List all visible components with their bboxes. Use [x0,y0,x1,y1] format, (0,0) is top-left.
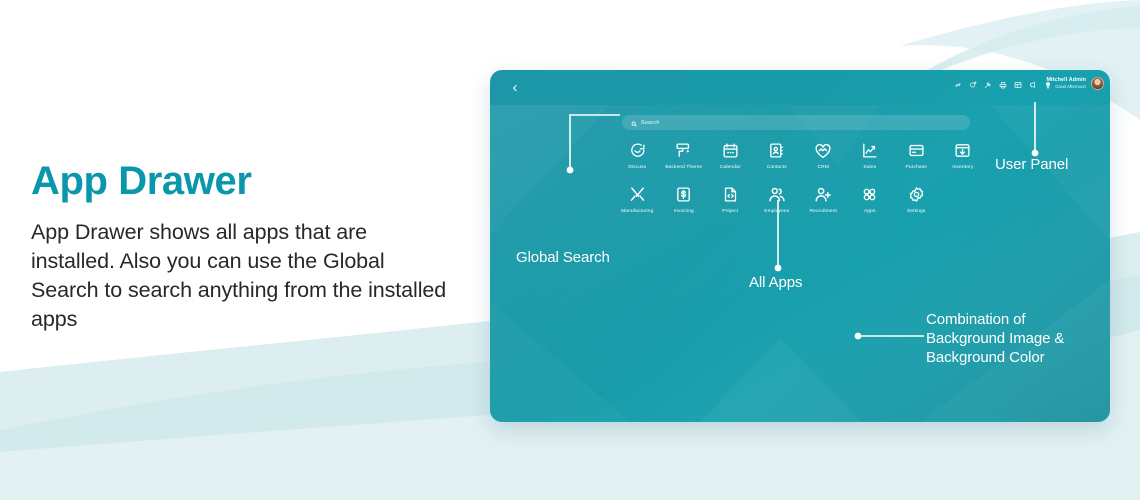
annotation-background-line-3: Background Color [926,348,1064,367]
panel-annotation-lines [490,70,1110,422]
page-description: App Drawer shows all apps that are insta… [31,218,451,334]
annotation-all-apps: All Apps [749,273,802,292]
annotation-user-panel: User Panel [995,155,1068,174]
slide-canvas: App Drawer App Drawer shows all apps tha… [0,0,1140,500]
annotation-global-search: Global Search [516,248,610,267]
annotation-background: Combination of Background Image & Backgr… [926,310,1064,367]
app-drawer-panel: ‹ [490,70,1110,422]
annotation-background-line-2: Background Image & [926,329,1064,348]
page-title: App Drawer [31,160,451,202]
left-copy-block: App Drawer App Drawer shows all apps tha… [31,160,451,334]
annotation-background-line-1: Combination of [926,310,1064,329]
